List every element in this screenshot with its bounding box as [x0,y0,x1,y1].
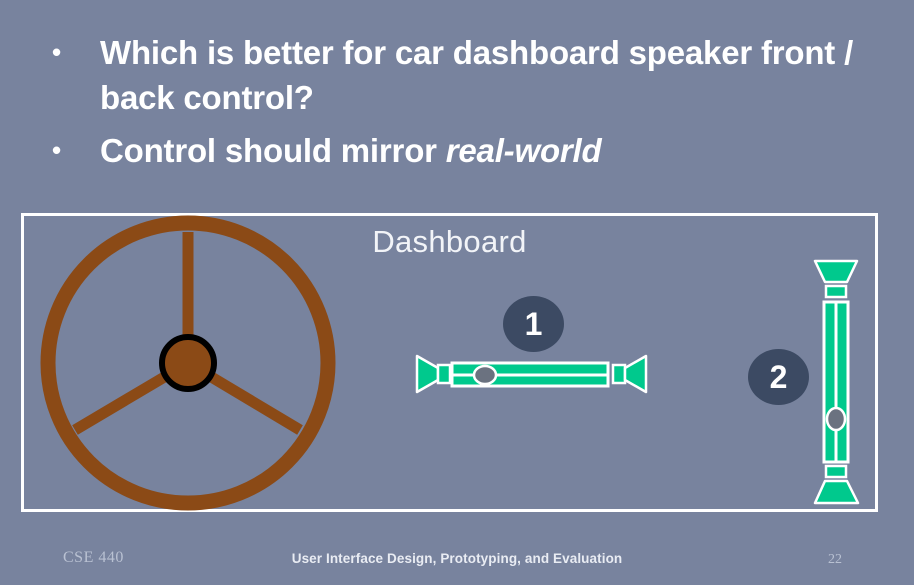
speaker-left-body [438,365,450,383]
footer-course-title: User Interface Design, Prototyping, and … [0,551,914,566]
speaker-right-icon [613,356,646,392]
diagram-artwork [0,0,914,585]
speaker-left-cone [417,356,438,392]
steering-wheel-hub [162,337,214,389]
fader-horizontal[interactable] [417,356,646,392]
speaker-bottom-cone [815,481,858,503]
speaker-bottom-body [826,466,846,477]
speaker-top-body [826,286,846,297]
speaker-top-cone [815,261,857,282]
speaker-bottom-icon [815,466,858,503]
steering-wheel [48,223,328,503]
slide-footer: CSE 440 User Interface Design, Prototypi… [0,549,914,571]
speaker-right-body [613,365,625,383]
slide: • Which is better for car dashboard spea… [0,0,914,585]
footer-page-number: 22 [828,552,842,568]
fader-vertical[interactable] [815,261,858,503]
speaker-left-icon [417,356,450,392]
fader-vertical-knob[interactable] [827,408,845,430]
option-badge-1: 1 [503,296,564,352]
speaker-top-icon [815,261,857,297]
option-badge-2: 2 [748,349,809,405]
speaker-right-cone [625,356,646,392]
fader-horizontal-knob[interactable] [474,366,496,384]
